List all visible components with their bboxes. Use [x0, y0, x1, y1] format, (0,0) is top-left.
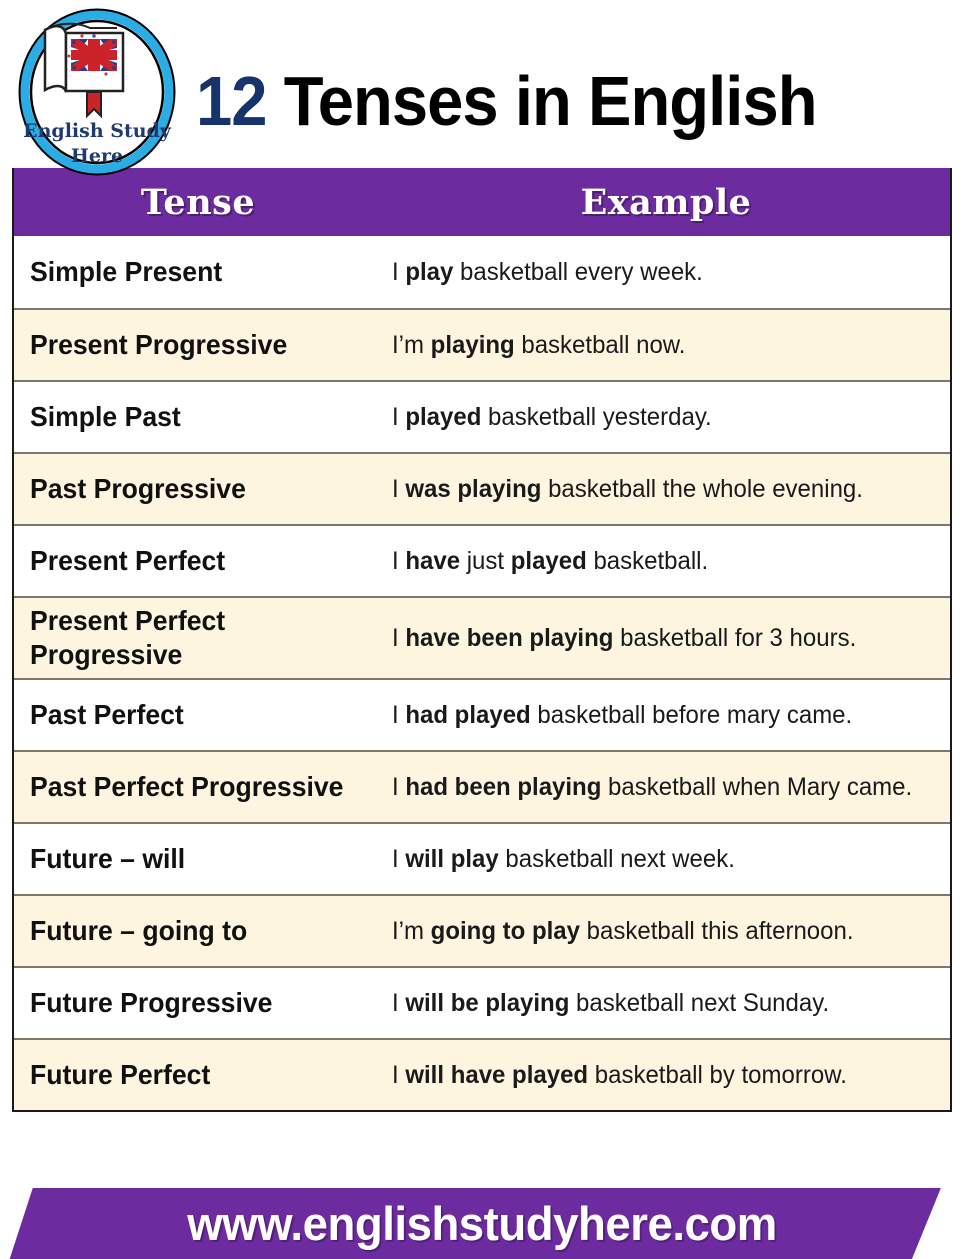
cell-tense: Present Perfect Progressive	[14, 598, 382, 678]
cell-example: I was playing basketball the whole eveni…	[382, 454, 950, 524]
cell-example: I played basketball yesterday.	[382, 382, 950, 452]
tense-label: Future – will	[30, 842, 185, 876]
tense-label: Present Progressive	[30, 328, 287, 362]
cell-example: I had played basketball before mary came…	[382, 680, 950, 750]
example-text: basketball this afternoon.	[580, 917, 854, 945]
example-verb-phrase: will have played	[405, 1061, 588, 1089]
cell-tense: Present Progressive	[14, 310, 382, 380]
example-verb-phrase: had played	[405, 701, 530, 729]
example-text: I	[392, 475, 405, 503]
example-text: I	[392, 773, 405, 801]
table-header-row: Tense Example	[14, 168, 950, 236]
footer-banner: www.englishstudyhere.com	[0, 1188, 964, 1259]
page-title: 12 Tenses in English	[196, 66, 817, 136]
tense-label: Simple Present	[30, 255, 222, 289]
cell-example: I had been playing basketball when Mary …	[382, 752, 950, 822]
cell-example: I will play basketball next week.	[382, 824, 950, 894]
table-row: Future – willI will play basketball next…	[14, 822, 950, 894]
cell-example: I will be playing basketball next Sunday…	[382, 968, 950, 1038]
column-header-example: Example	[382, 182, 950, 223]
example-text: I’m	[392, 917, 431, 945]
example-text: basketball next week.	[499, 845, 735, 873]
example-sentence: I will be playing basketball next Sunday…	[392, 987, 829, 1020]
tense-label: Simple Past	[30, 400, 181, 434]
logo-line2: Here	[71, 145, 123, 167]
example-sentence: I was playing basketball the whole eveni…	[392, 473, 863, 506]
example-text: I	[392, 701, 405, 729]
example-text: I	[392, 624, 405, 652]
example-verb-phrase: played	[511, 547, 587, 575]
cell-tense: Future Perfect	[14, 1040, 382, 1110]
table-row: Present Perfect ProgressiveI have been p…	[14, 596, 950, 678]
cell-example: I have just played basketball.	[382, 526, 950, 596]
tense-label: Past Perfect	[30, 698, 184, 732]
example-verb-phrase: going to play	[431, 917, 580, 945]
example-sentence: I have just played basketball.	[392, 545, 708, 578]
example-text: I	[392, 547, 405, 575]
example-text: I	[392, 1061, 405, 1089]
example-text: basketball now.	[515, 331, 686, 359]
table-row: Simple PastI played basketball yesterday…	[14, 380, 950, 452]
cell-tense: Future Progressive	[14, 968, 382, 1038]
example-text: I	[392, 403, 405, 431]
cell-tense: Simple Present	[14, 236, 382, 308]
table-row: Past Perfect ProgressiveI had been playi…	[14, 750, 950, 822]
cell-tense: Past Perfect Progressive	[14, 752, 382, 822]
page-header: English Study Here 12 Tenses in English	[0, 0, 964, 168]
table-body: Simple PresentI play basketball every we…	[14, 236, 950, 1110]
table-row: Simple PresentI play basketball every we…	[14, 236, 950, 308]
table-row: Future – going toI’m going to play baske…	[14, 894, 950, 966]
example-verb-phrase: played	[405, 403, 481, 431]
cell-tense: Present Perfect	[14, 526, 382, 596]
example-text: I’m	[392, 331, 431, 359]
example-text: I	[392, 845, 405, 873]
tenses-table: Tense Example Simple PresentI play baske…	[12, 168, 952, 1112]
cell-example: I’m playing basketball now.	[382, 310, 950, 380]
logo-line1: English Study	[23, 120, 172, 142]
example-verb-phrase: was playing	[405, 475, 541, 503]
cell-example: I have been playing basketball for 3 hou…	[382, 598, 950, 678]
cell-tense: Past Perfect	[14, 680, 382, 750]
example-sentence: I played basketball yesterday.	[392, 401, 712, 434]
cell-tense: Future – going to	[14, 896, 382, 966]
example-text: I	[392, 989, 405, 1017]
page-title-number: 12	[196, 62, 267, 140]
cell-example: I’m going to play basketball this aftern…	[382, 896, 950, 966]
example-verb-phrase: had been playing	[405, 773, 601, 801]
example-text: basketball.	[587, 547, 708, 575]
example-verb-phrase: playing	[431, 331, 515, 359]
cell-tense: Past Progressive	[14, 454, 382, 524]
example-verb-phrase: have been playing	[405, 624, 613, 652]
page-title-rest: Tenses in English	[267, 62, 817, 140]
example-sentence: I play basketball every week.	[392, 256, 703, 289]
tense-label: Future Perfect	[30, 1058, 210, 1092]
example-sentence: I’m playing basketball now.	[392, 329, 685, 362]
example-sentence: I will play basketball next week.	[392, 843, 735, 876]
example-sentence: I have been playing basketball for 3 hou…	[392, 622, 856, 655]
table-row: Present PerfectI have just played basket…	[14, 524, 950, 596]
example-text: basketball when Mary came.	[601, 773, 912, 801]
tense-label: Past Progressive	[30, 472, 246, 506]
table-row: Future PerfectI will have played basketb…	[14, 1038, 950, 1110]
example-text: I	[392, 258, 405, 286]
example-text: basketball by tomorrow.	[588, 1061, 847, 1089]
example-text: basketball for 3 hours.	[613, 624, 856, 652]
table-row: Future ProgressiveI will be playing bask…	[14, 966, 950, 1038]
example-text: basketball every week.	[453, 258, 702, 286]
tense-label: Past Perfect Progressive	[30, 770, 343, 804]
example-text: basketball yesterday.	[481, 403, 711, 431]
example-verb-phrase: have	[405, 547, 460, 575]
tense-label: Future Progressive	[30, 986, 272, 1020]
cell-example: I will have played basketball by tomorro…	[382, 1040, 950, 1110]
english-study-here-logo: English Study Here	[14, 6, 180, 178]
example-verb-phrase: will be playing	[405, 989, 569, 1017]
tense-label: Present Perfect Progressive	[30, 604, 357, 672]
column-header-tense: Tense	[14, 182, 382, 223]
cell-tense: Simple Past	[14, 382, 382, 452]
example-text: basketball before mary came.	[531, 701, 852, 729]
example-verb-phrase: will play	[405, 845, 498, 873]
tense-label: Future – going to	[30, 914, 247, 948]
example-text: just	[460, 547, 511, 575]
cell-tense: Future – will	[14, 824, 382, 894]
table-row: Past ProgressiveI was playing basketball…	[14, 452, 950, 524]
tense-label: Present Perfect	[30, 544, 225, 578]
example-sentence: I had played basketball before mary came…	[392, 699, 852, 732]
footer-website[interactable]: www.englishstudyhere.com	[14, 1188, 949, 1259]
example-sentence: I will have played basketball by tomorro…	[392, 1059, 847, 1092]
example-verb-phrase: play	[405, 258, 453, 286]
example-sentence: I’m going to play basketball this aftern…	[392, 915, 854, 948]
cell-example: I play basketball every week.	[382, 236, 950, 308]
table-row: Present ProgressiveI’m playing basketbal…	[14, 308, 950, 380]
example-text: basketball the whole evening.	[541, 475, 863, 503]
table-row: Past PerfectI had played basketball befo…	[14, 678, 950, 750]
example-text: basketball next Sunday.	[569, 989, 829, 1017]
example-sentence: I had been playing basketball when Mary …	[392, 771, 912, 804]
